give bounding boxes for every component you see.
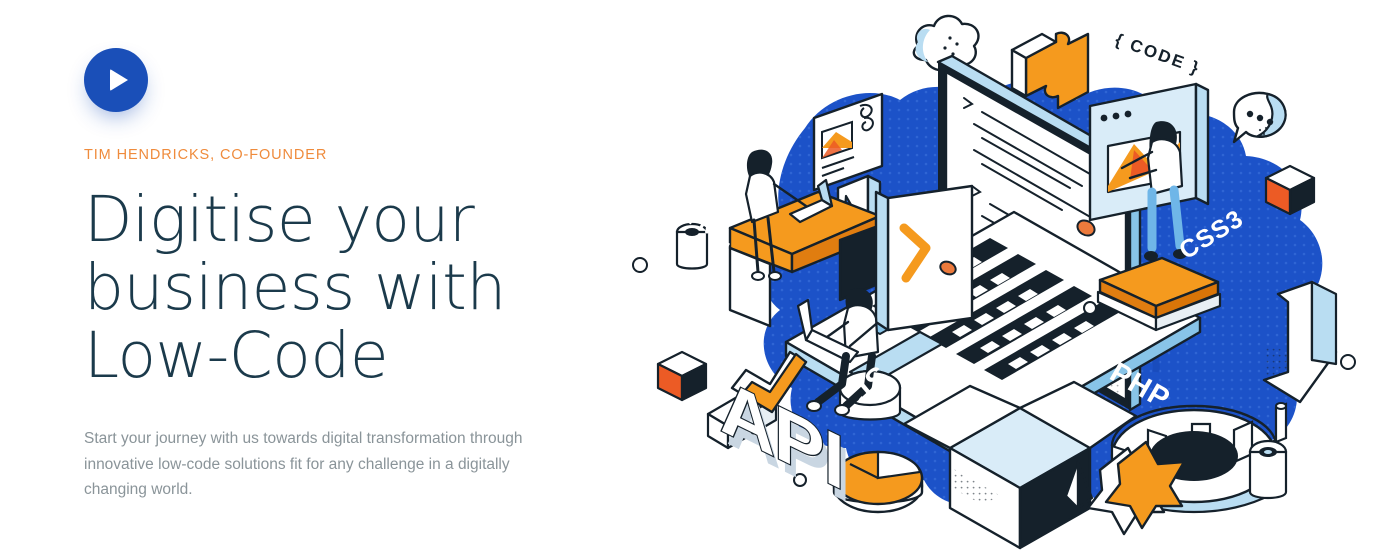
hero-paragraph: Start your journey with us towards digit… xyxy=(84,426,554,502)
play-icon xyxy=(110,69,128,91)
decor-dot-blob-top xyxy=(1084,302,1096,314)
headline-line-3: Low-Code xyxy=(84,319,388,392)
decor-circle-left xyxy=(633,258,647,272)
page-title: Digitise your business with Low-Code xyxy=(84,186,564,390)
hero-illustration: { CODE } xyxy=(600,0,1385,554)
hero-section: TIM HENDRICKS, CO-FOUNDER Digitise your … xyxy=(0,0,1385,554)
decor-circle-right xyxy=(1341,355,1355,369)
code-panel-icon xyxy=(876,186,972,330)
speech-bubble-icon xyxy=(1234,93,1286,142)
cube-icon-left xyxy=(658,352,706,400)
headline-line-1: Digitise your xyxy=(84,183,474,256)
label-code: { CODE } xyxy=(1113,30,1204,78)
cube-icon-right xyxy=(1266,166,1314,214)
play-button[interactable] xyxy=(84,48,148,112)
svg-text:{ CODE }: { CODE } xyxy=(1113,30,1204,78)
hero-eyebrow: TIM HENDRICKS, CO-FOUNDER xyxy=(84,147,564,164)
headline-line-2: business with xyxy=(84,251,506,324)
hero-copy-column: TIM HENDRICKS, CO-FOUNDER Digitise your … xyxy=(84,48,564,502)
